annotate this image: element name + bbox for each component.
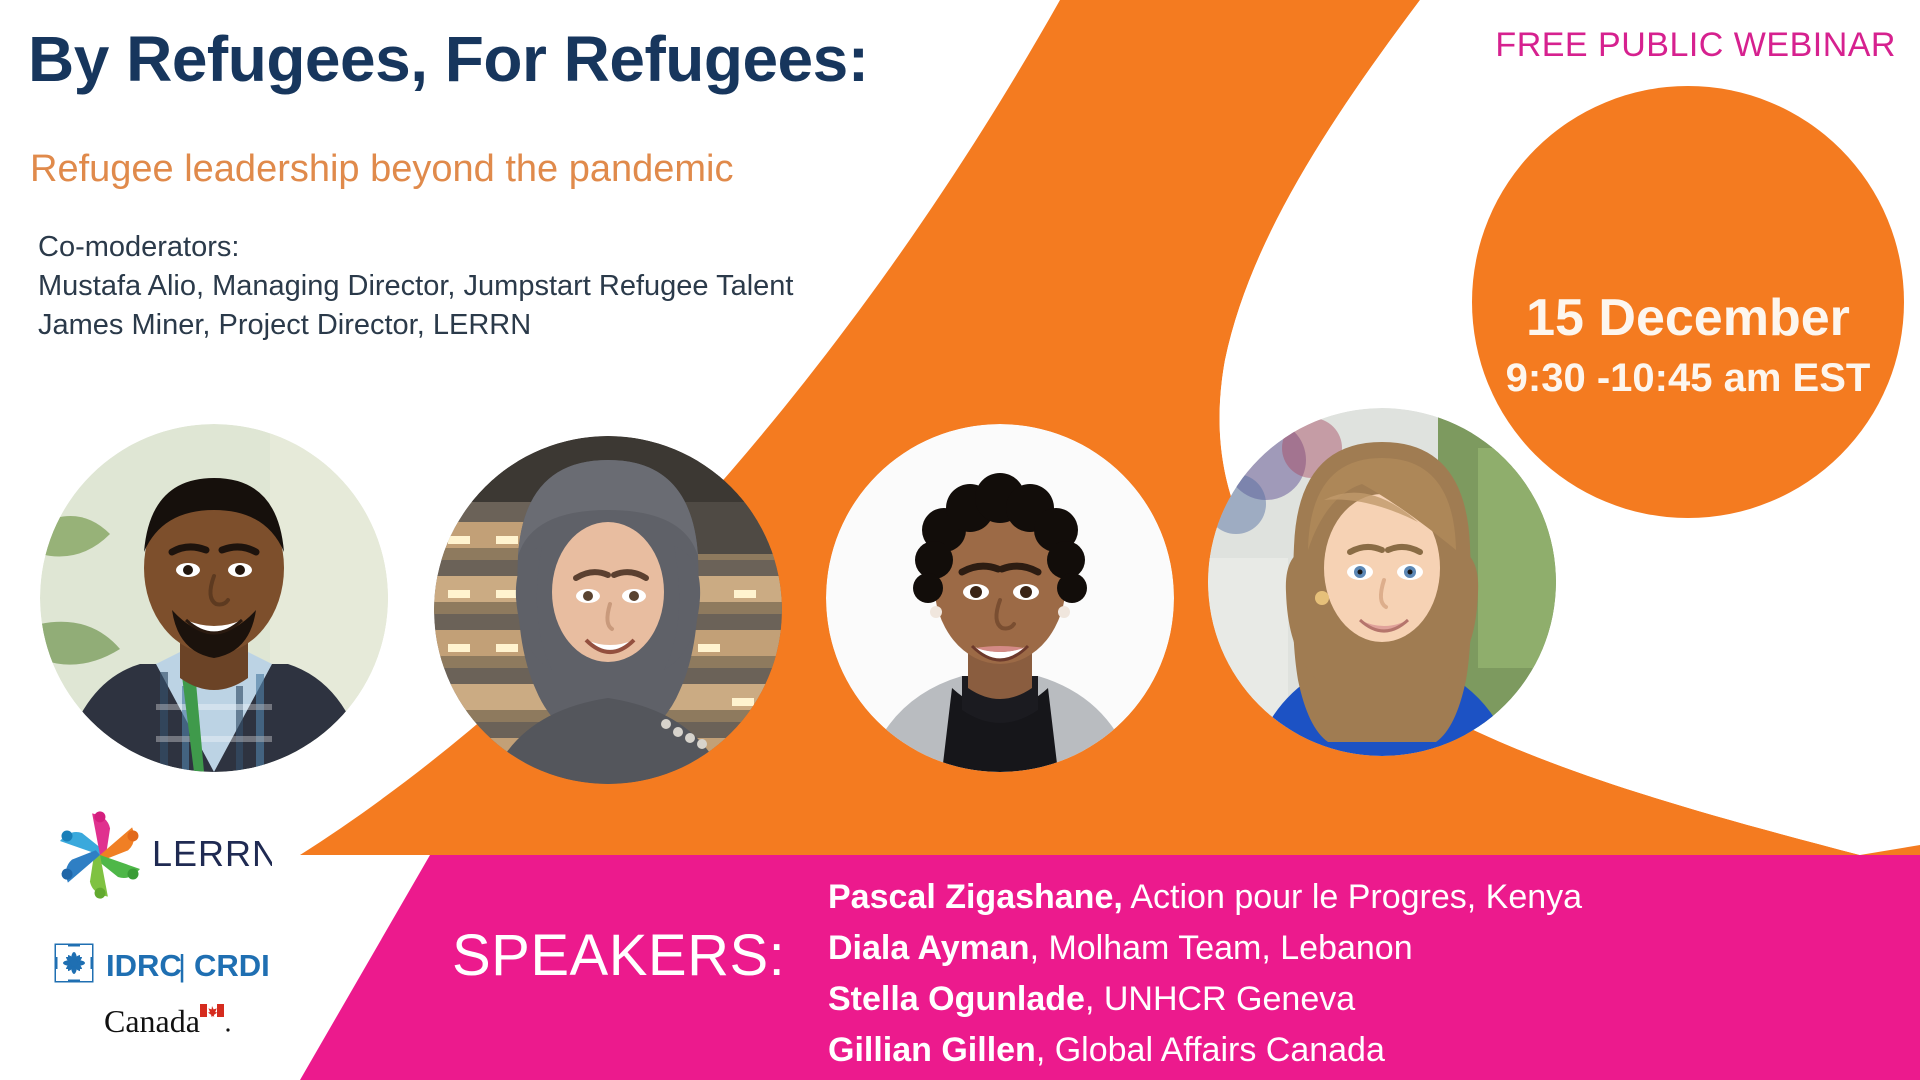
crdi-wordmark: CRDI <box>194 948 270 983</box>
idrc-wordmark: IDRC <box>106 948 182 983</box>
portrait-stella-ogunlade <box>826 424 1174 772</box>
co-moderator-1: Mustafa Alio, Managing Director, Jumpsta… <box>38 267 793 306</box>
co-moderator-2: James Miner, Project Director, LERRN <box>38 306 793 345</box>
speaker-org: , Global Affairs Canada <box>1036 1031 1385 1069</box>
idrc-separator: | <box>178 948 186 983</box>
speaker-org: , Molham Team, Lebanon <box>1030 929 1413 967</box>
lerrn-starburst-icon <box>59 810 141 900</box>
event-date: 15 December <box>1526 288 1850 348</box>
canada-wordmark: Canada <box>104 1003 200 1039</box>
canada-flag-icon <box>200 1004 224 1018</box>
webinar-poster: By Refugees, For Refugees: Refugee leade… <box>0 0 1920 1080</box>
speaker-org: , UNHCR Geneva <box>1085 980 1355 1018</box>
co-moderators-label: Co-moderators: <box>38 228 793 267</box>
event-time: 9:30 -10:45 am EST <box>1506 354 1871 402</box>
lerrn-logo: LERRN <box>56 810 272 900</box>
speaker-row: Diala Ayman, Molham Team, Lebanon <box>828 923 1582 974</box>
portrait-diala-ayman <box>434 436 782 784</box>
speaker-org: Action pour le Progres, Kenya <box>1123 878 1582 916</box>
idrc-flower-icon <box>56 945 92 981</box>
page-title: By Refugees, For Refugees: <box>28 22 869 96</box>
speaker-name: Diala Ayman <box>828 929 1030 967</box>
page-subtitle: Refugee leadership beyond the pandemic <box>30 148 734 191</box>
event-date-badge: 15 December 9:30 -10:45 am EST <box>1472 86 1904 518</box>
idrc-crdi-logo: IDRC | CRDI <box>54 938 278 988</box>
speaker-name: Pascal Zigashane, <box>828 878 1123 916</box>
co-moderators-block: Co-moderators: Mustafa Alio, Managing Di… <box>38 228 793 345</box>
canada-wordmark-logo: Canada <box>104 1000 234 1042</box>
speakers-list: Pascal Zigashane, Action pour le Progres… <box>828 872 1582 1076</box>
portrait-pascal-zigashane <box>40 424 388 772</box>
speaker-name: Stella Ogunlade <box>828 980 1085 1018</box>
speakers-label: SPEAKERS: <box>452 922 785 989</box>
speaker-row: Stella Ogunlade, UNHCR Geneva <box>828 974 1582 1025</box>
portrait-gillian-gillen <box>1208 408 1556 756</box>
lerrn-wordmark: LERRN <box>152 833 272 874</box>
speaker-name: Gillian Gillen <box>828 1031 1036 1069</box>
speaker-row: Gillian Gillen, Global Affairs Canada <box>828 1025 1582 1076</box>
webinar-kicker: FREE PUBLIC WEBINAR <box>1495 26 1896 65</box>
speaker-row: Pascal Zigashane, Action pour le Progres… <box>828 872 1582 923</box>
